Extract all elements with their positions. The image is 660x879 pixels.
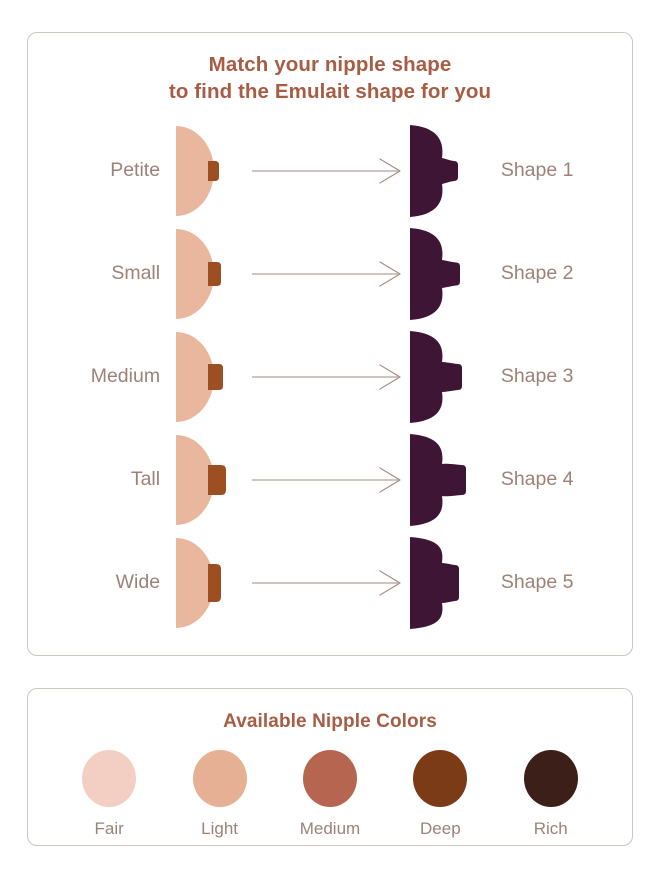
available-colors-card: Available Nipple Colors Fair Light Mediu…: [27, 688, 633, 846]
emulait-nipple-graphic: [408, 121, 470, 221]
color-swatch-item[interactable]: Rich: [503, 750, 599, 839]
nipple-shape-label: Tall: [28, 468, 174, 491]
match-title-line-1: Match your nipple shape: [28, 51, 632, 78]
match-arrow-cell: [246, 465, 408, 495]
nipple-shape-label: Small: [28, 262, 174, 285]
product-illustration-cell: [408, 224, 480, 324]
nipple-shape-label: Medium: [28, 365, 174, 388]
color-swatch-label: Deep: [420, 819, 461, 839]
breast-profile-graphic: [174, 430, 232, 530]
color-swatch-label: Rich: [534, 819, 568, 839]
nipple-shape-guide-page: Match your nipple shape to find the Emul…: [0, 0, 660, 879]
product-shape-label: Shape 2: [481, 262, 632, 285]
match-arrow-cell: [246, 156, 408, 186]
colors-card-title: Available Nipple Colors: [28, 710, 632, 734]
color-swatch-label: Medium: [300, 819, 360, 839]
breast-illustration-cell: [174, 121, 246, 221]
breast-profile-graphic: [174, 327, 232, 427]
color-swatch-dot[interactable]: [524, 750, 578, 807]
shape-match-row: Tall Shape 4: [28, 428, 632, 531]
arrow-right-icon: [252, 362, 402, 392]
match-shape-card: Match your nipple shape to find the Emul…: [27, 32, 633, 656]
match-arrow-cell: [246, 568, 408, 598]
color-swatch-label: Fair: [95, 819, 124, 839]
emulait-nipple-graphic: [408, 327, 470, 427]
breast-illustration-cell: [174, 224, 246, 324]
color-swatch-row: Fair Light Medium Deep Rich: [28, 750, 632, 839]
product-shape-label: Shape 5: [481, 571, 632, 594]
color-swatch-label: Light: [201, 819, 238, 839]
nipple-shape-label: Wide: [28, 571, 174, 594]
arrow-right-icon: [252, 259, 402, 289]
breast-profile-graphic: [174, 533, 232, 633]
breast-illustration-cell: [174, 327, 246, 427]
product-illustration-cell: [408, 430, 480, 530]
emulait-nipple-graphic: [408, 533, 470, 633]
color-swatch-item[interactable]: Medium: [282, 750, 378, 839]
color-swatch-dot[interactable]: [303, 750, 357, 807]
product-shape-label: Shape 3: [481, 365, 632, 388]
product-illustration-cell: [408, 121, 480, 221]
product-illustration-cell: [408, 533, 480, 633]
match-card-title: Match your nipple shape to find the Emul…: [28, 51, 632, 105]
match-arrow-cell: [246, 259, 408, 289]
product-shape-label: Shape 1: [481, 159, 632, 182]
product-illustration-cell: [408, 327, 480, 427]
breast-illustration-cell: [174, 430, 246, 530]
product-shape-label: Shape 4: [481, 468, 632, 491]
color-swatch-item[interactable]: Fair: [61, 750, 157, 839]
color-swatch-dot[interactable]: [413, 750, 467, 807]
emulait-nipple-graphic: [408, 430, 470, 530]
shape-match-row: Medium Shape 3: [28, 325, 632, 428]
color-swatch-item[interactable]: Light: [172, 750, 268, 839]
arrow-right-icon: [252, 465, 402, 495]
match-title-line-2: to find the Emulait shape for you: [28, 78, 632, 105]
match-rows-list: Petite Shape 1Small Shape 2Medium: [28, 119, 632, 634]
color-swatch-dot[interactable]: [193, 750, 247, 807]
arrow-right-icon: [252, 156, 402, 186]
color-swatch-item[interactable]: Deep: [392, 750, 488, 839]
breast-profile-graphic: [174, 224, 232, 324]
shape-match-row: Petite Shape 1: [28, 119, 632, 222]
shape-match-row: Small Shape 2: [28, 222, 632, 325]
arrow-right-icon: [252, 568, 402, 598]
breast-illustration-cell: [174, 533, 246, 633]
emulait-nipple-graphic: [408, 224, 470, 324]
shape-match-row: Wide Shape 5: [28, 531, 632, 634]
color-swatch-dot[interactable]: [82, 750, 136, 807]
breast-profile-graphic: [174, 121, 232, 221]
match-arrow-cell: [246, 362, 408, 392]
nipple-shape-label: Petite: [28, 159, 174, 182]
